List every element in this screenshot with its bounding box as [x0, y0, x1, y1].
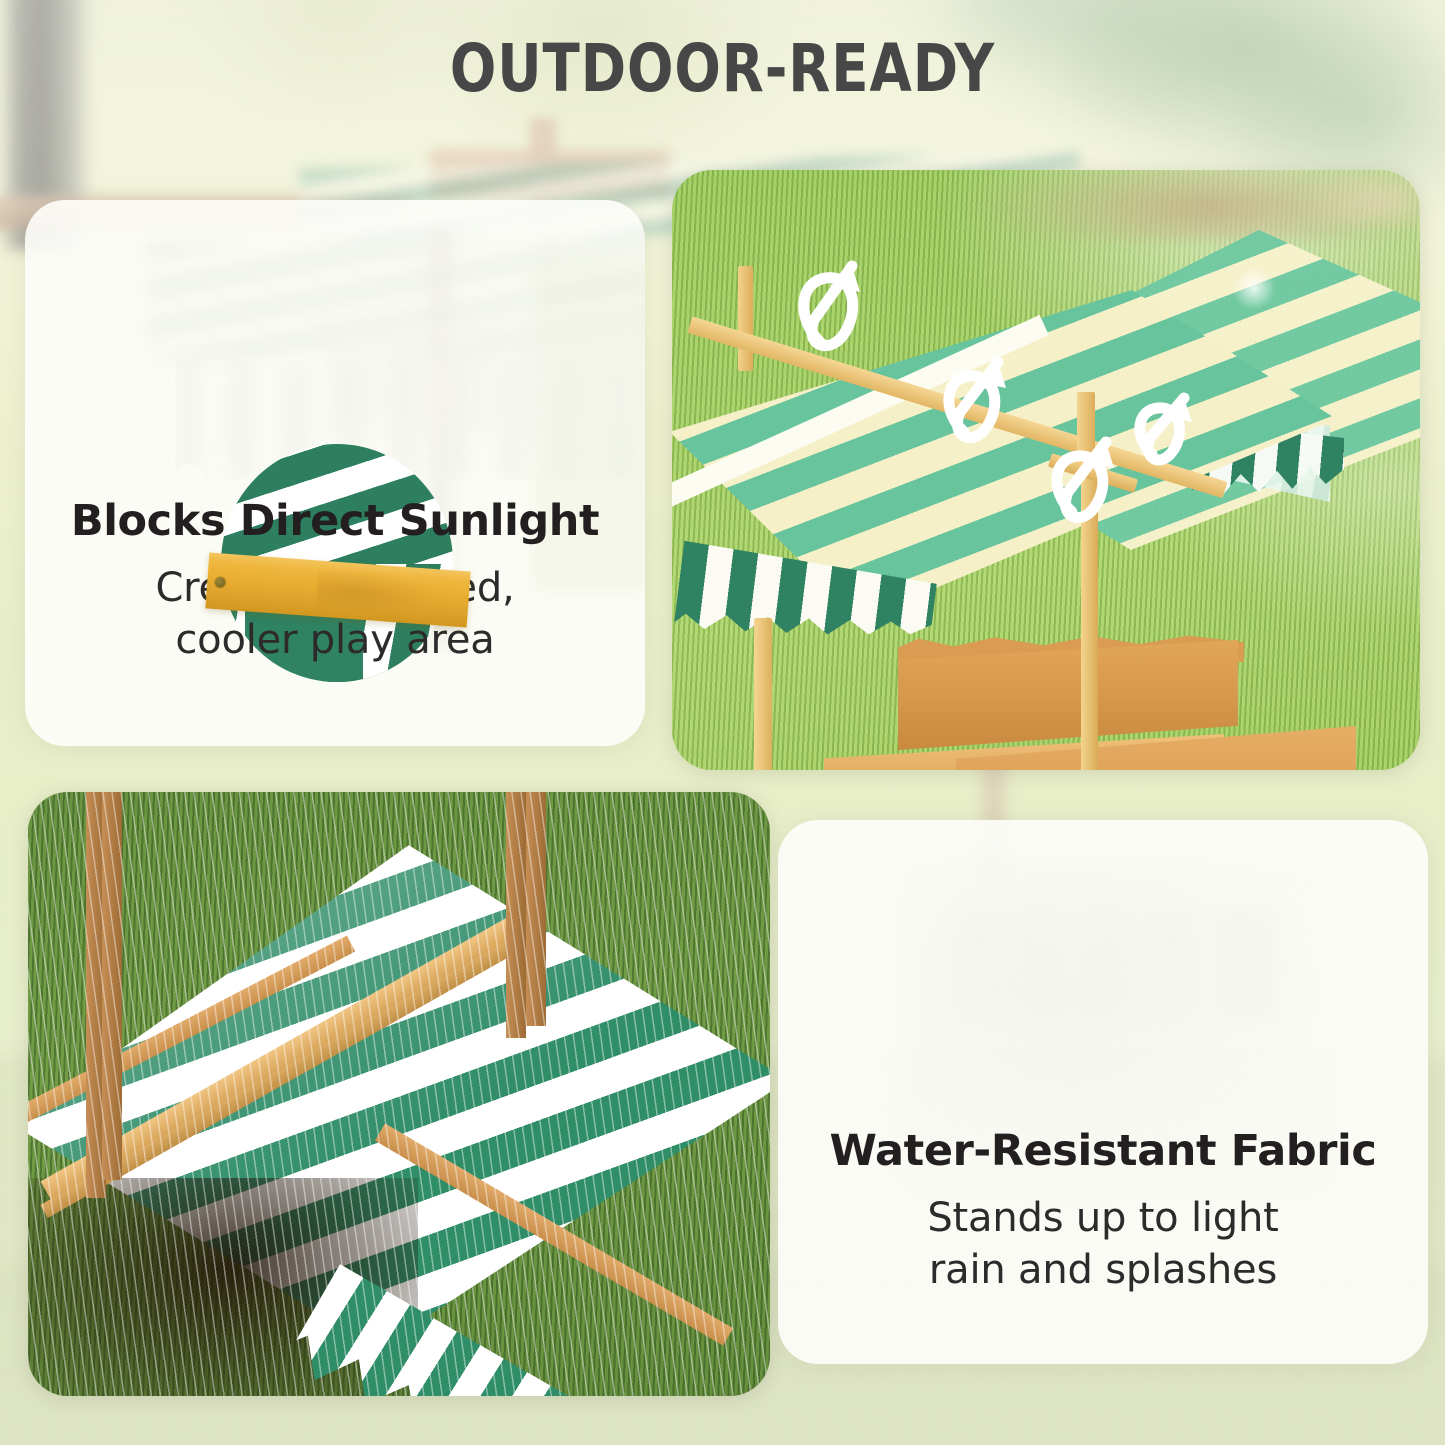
ghost-stripes [144, 233, 645, 363]
product-photo-sandbox-open-canopy [672, 170, 1420, 770]
lens-flare-icon [1232, 266, 1276, 310]
card-subtitle: Stands up to light rain and splashes [812, 1192, 1394, 1296]
card-subtitle-line-2: rain and splashes [812, 1244, 1394, 1296]
ghost-watermark-letters [325, 320, 645, 430]
page-title: OUTDOOR-READY [58, 36, 1387, 102]
canopy-pole-left [754, 618, 772, 770]
card-heading: Water-Resistant Fabric [812, 1126, 1394, 1176]
photo-content [28, 792, 770, 1396]
canopy-pole-right-front [526, 792, 546, 1026]
card-subtitle-line-1: Stands up to light [812, 1192, 1394, 1244]
card-text-block: Water-Resistant Fabric Stands up to ligh… [778, 1126, 1428, 1296]
product-photo-closed-cover-rain [28, 792, 770, 1396]
card-subtitle-line-2: cooler play area [59, 614, 611, 666]
canopy-pole-left-front [102, 792, 122, 1180]
canopy-pole-right-rear [506, 792, 526, 1038]
card-heading: Blocks Direct Sunlight [59, 496, 611, 546]
canopy-pole-long [1081, 462, 1098, 770]
canopy-post-middle [1077, 392, 1095, 472]
feature-card-water-resistant: Water-Resistant Fabric Stands up to ligh… [778, 820, 1428, 1364]
ghost-watermark-letters [958, 910, 1278, 1020]
dirt-patch-secondary [1292, 170, 1420, 226]
feature-card-blocks-sunlight: Blocks Direct Sunlight Creates a shaded,… [25, 200, 645, 746]
canopy-post-upper-left [738, 266, 753, 371]
photo-content [672, 170, 1420, 770]
